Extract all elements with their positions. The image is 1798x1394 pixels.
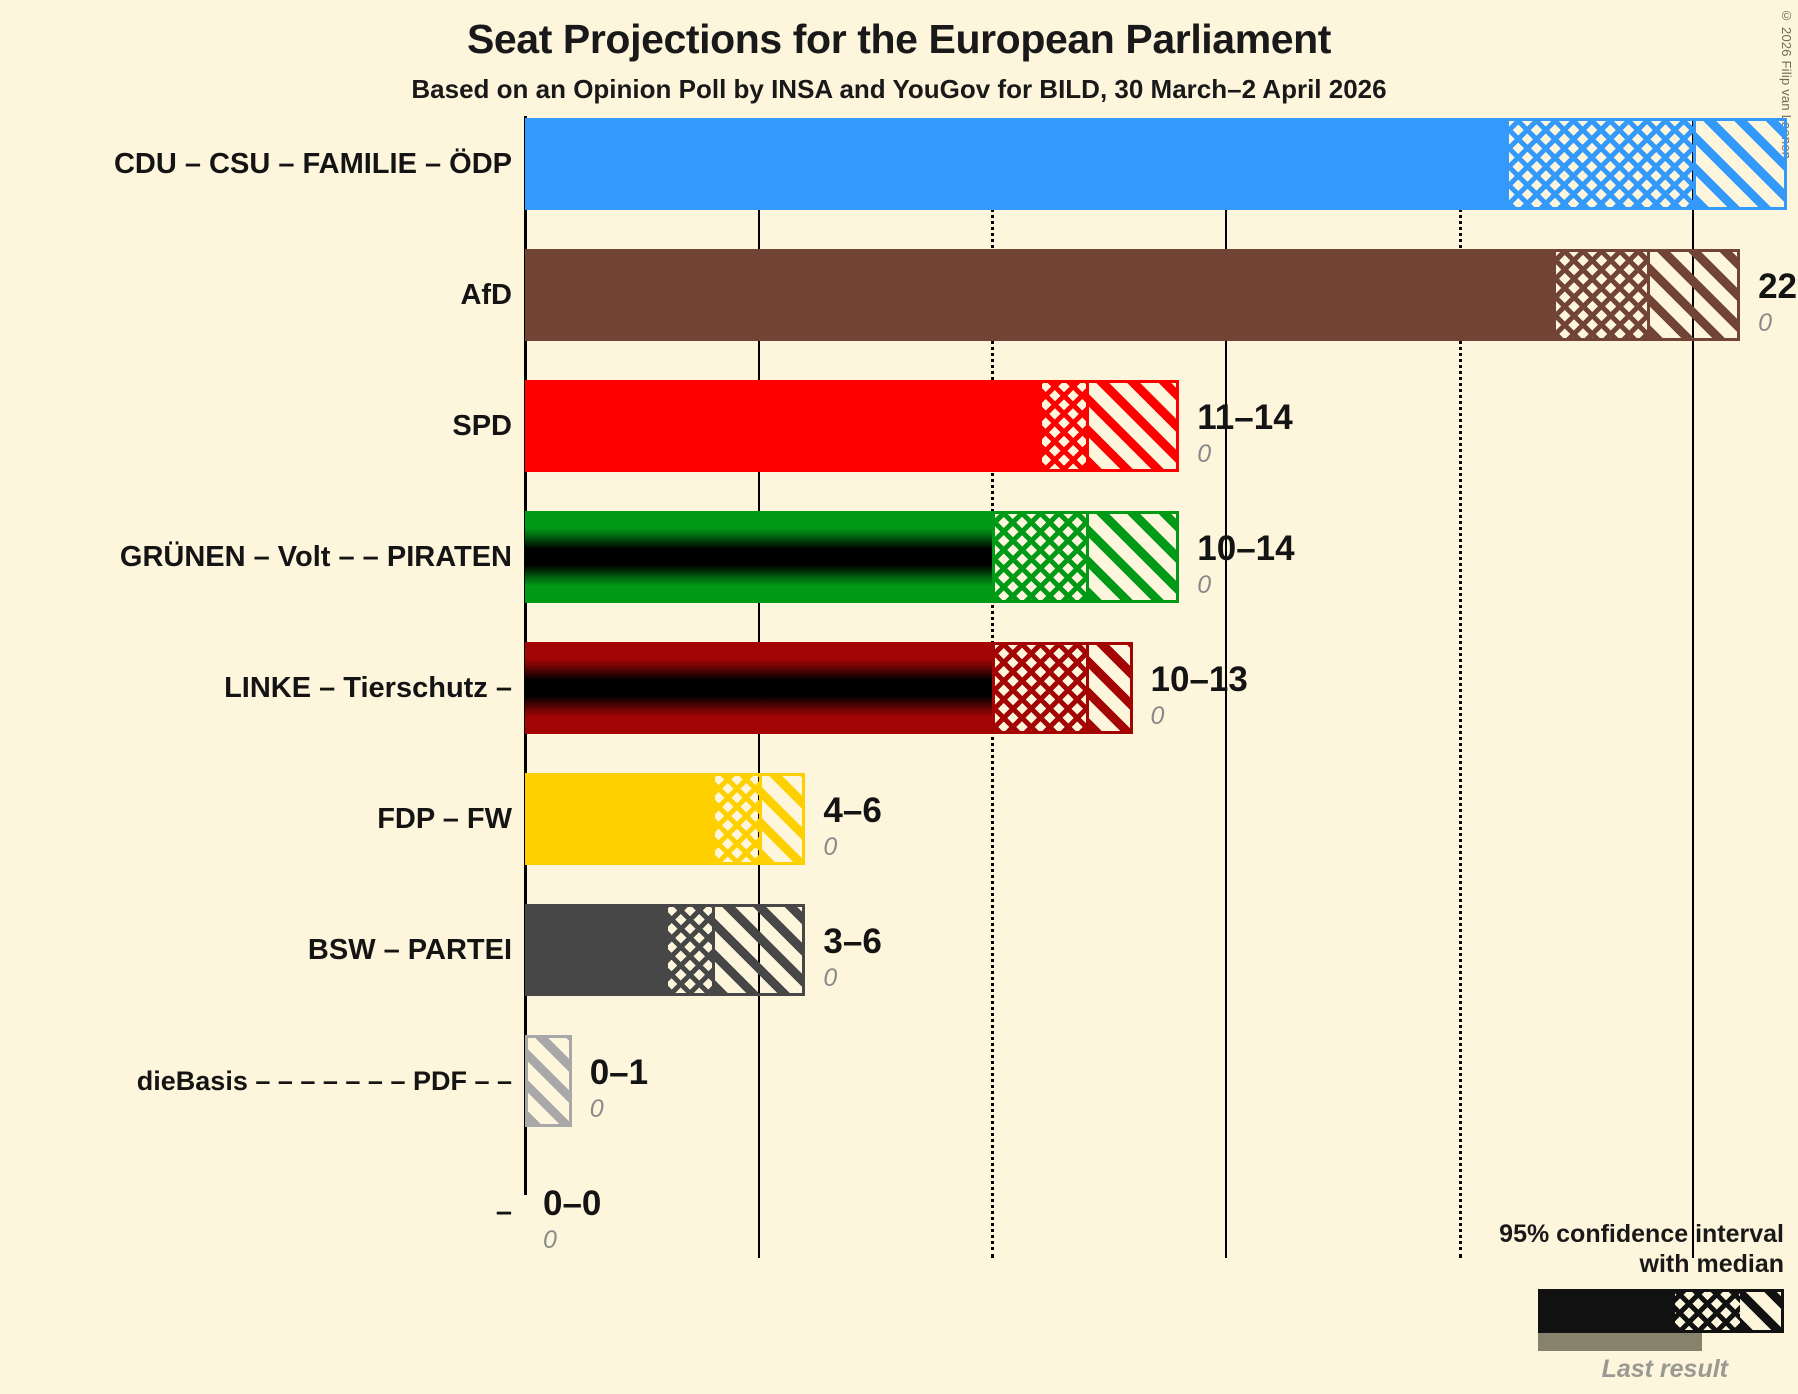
bar-segment-crosshatch bbox=[1553, 249, 1646, 341]
bar-row-label: GRÜNEN – Volt – – PIRATEN bbox=[120, 537, 512, 577]
bar-segment-crosshatch bbox=[665, 904, 712, 996]
bar-median-band bbox=[525, 659, 992, 718]
bar-row: FDP – FW4–60 bbox=[0, 773, 1798, 865]
bar-row: AfD22–260 bbox=[0, 249, 1798, 341]
legend-crosshatch-segment bbox=[1675, 1292, 1740, 1330]
bar-row-label: AfD bbox=[460, 275, 512, 315]
bar-segment-diagonal bbox=[712, 904, 805, 996]
bar-segment-solid bbox=[525, 904, 665, 996]
bar-segment-solid bbox=[525, 249, 1553, 341]
confidence-interval-bar bbox=[525, 904, 805, 996]
legend-line-2: with median bbox=[1364, 1250, 1784, 1280]
bar-value-block: 22–260 bbox=[1758, 269, 1798, 336]
bar-row-label: BSW – PARTEI bbox=[308, 930, 512, 970]
bar-segment-crosshatch bbox=[992, 511, 1085, 603]
bar-value-block: 3–60 bbox=[823, 924, 881, 991]
bar-value-block: 0–10 bbox=[590, 1055, 648, 1122]
confidence-interval-bar bbox=[525, 1035, 572, 1127]
bar-value-range: 10–13 bbox=[1151, 662, 1248, 697]
confidence-interval-bar bbox=[525, 773, 805, 865]
bar-row-label: LINKE – Tierschutz – bbox=[224, 668, 512, 708]
bar-segment-solid bbox=[525, 773, 712, 865]
bar-last-result: 0 bbox=[543, 1228, 601, 1253]
bar-segment-diagonal bbox=[1086, 642, 1133, 734]
bar-value-block: 10–130 bbox=[1151, 662, 1248, 729]
bar-segment-solid bbox=[525, 511, 992, 603]
bar-row-label: – bbox=[496, 1192, 512, 1232]
bar-row-label: dieBasis – – – – – – – PDF – – bbox=[137, 1061, 512, 1101]
bar-last-result: 0 bbox=[1151, 704, 1248, 729]
bar-segment-diagonal bbox=[1693, 118, 1786, 210]
bar-value-range: 3–6 bbox=[823, 924, 881, 959]
bar-row-label: CDU – CSU – FAMILIE – ÖDP bbox=[114, 144, 512, 184]
bar-last-result: 0 bbox=[1197, 442, 1292, 467]
bar-segment-diagonal bbox=[1086, 380, 1179, 472]
confidence-interval-bar bbox=[525, 249, 1740, 341]
confidence-interval-bar bbox=[525, 642, 1133, 734]
bar-segment-crosshatch bbox=[1506, 118, 1693, 210]
bar-segment-solid bbox=[525, 380, 1039, 472]
bar-value-block: 0–00 bbox=[543, 1186, 601, 1253]
bar-value-range: 0–0 bbox=[543, 1186, 601, 1221]
bar-last-result: 0 bbox=[1197, 573, 1294, 598]
bar-row: BSW – PARTEI3–60 bbox=[0, 904, 1798, 996]
bar-segment-diagonal bbox=[759, 773, 806, 865]
bar-row: dieBasis – – – – – – – PDF – –0–10 bbox=[0, 1035, 1798, 1127]
chart-legend: 95% confidence interval with median Last… bbox=[1364, 1220, 1784, 1384]
confidence-interval-bar bbox=[525, 118, 1787, 210]
legend-diagonal-segment bbox=[1740, 1292, 1781, 1330]
legend-line-1: 95% confidence interval bbox=[1364, 1220, 1784, 1250]
legend-solid-segment bbox=[1541, 1292, 1675, 1330]
bar-last-result: 0 bbox=[590, 1097, 648, 1122]
bar-row: GRÜNEN – Volt – – PIRATEN10–140 bbox=[0, 511, 1798, 603]
bar-segment-diagonal bbox=[1086, 511, 1179, 603]
bar-last-result: 0 bbox=[823, 835, 881, 860]
bar-median-band bbox=[525, 528, 992, 587]
bar-segment-diagonal bbox=[525, 1035, 572, 1127]
bar-row-label: SPD bbox=[452, 406, 512, 446]
bar-segment-solid bbox=[525, 642, 992, 734]
confidence-interval-bar bbox=[525, 511, 1179, 603]
bar-row-label: FDP – FW bbox=[377, 799, 512, 839]
bar-row: SPD11–140 bbox=[0, 380, 1798, 472]
bar-value-block: 11–140 bbox=[1197, 400, 1292, 467]
bar-value-block: 4–60 bbox=[823, 793, 881, 860]
bar-row: CDU – CSU – FAMILIE – ÖDP21–270 bbox=[0, 118, 1798, 210]
bar-segment-diagonal bbox=[1647, 249, 1740, 341]
bar-last-result: 0 bbox=[823, 966, 881, 991]
bar-value-range: 22–26 bbox=[1758, 269, 1798, 304]
bar-value-block: 10–140 bbox=[1197, 531, 1294, 598]
bar-segment-crosshatch bbox=[1039, 380, 1086, 472]
bar-value-range: 10–14 bbox=[1197, 531, 1294, 566]
bar-segment-solid bbox=[525, 118, 1506, 210]
legend-last-result-label: Last result bbox=[1364, 1355, 1728, 1384]
bar-value-range: 4–6 bbox=[823, 793, 881, 828]
bar-row: LINKE – Tierschutz –10–130 bbox=[0, 642, 1798, 734]
bar-last-result: 0 bbox=[1758, 311, 1798, 336]
confidence-interval-bar bbox=[525, 380, 1179, 472]
bar-segment-crosshatch bbox=[992, 642, 1085, 734]
bar-value-range: 11–14 bbox=[1197, 400, 1292, 435]
legend-sample-bar bbox=[1538, 1289, 1784, 1333]
bar-segment-crosshatch bbox=[712, 773, 759, 865]
bar-value-range: 0–1 bbox=[590, 1055, 648, 1090]
legend-last-result-bar bbox=[1538, 1333, 1702, 1351]
